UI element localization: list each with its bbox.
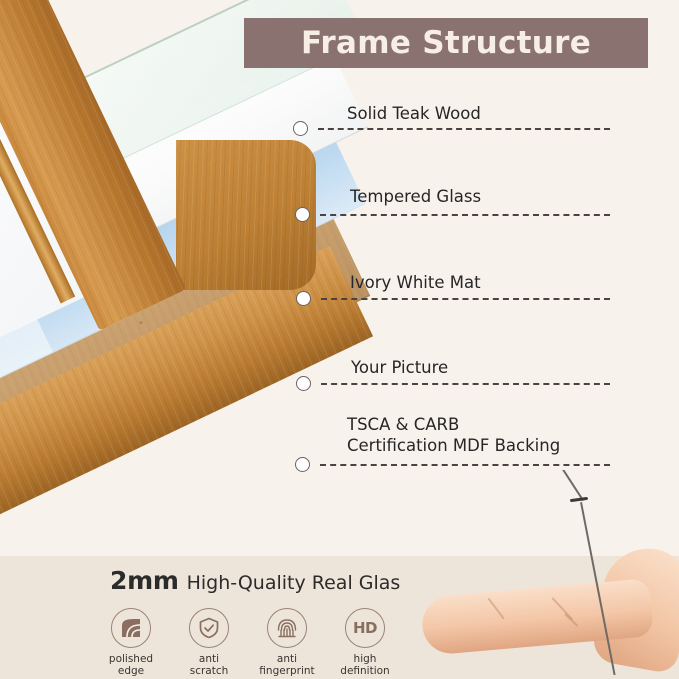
callout-leader-line <box>320 464 610 466</box>
callout-marker <box>293 121 308 136</box>
hd-icon: HD <box>345 608 385 648</box>
polished-edge-icon <box>111 608 151 648</box>
callout-leader-line <box>318 128 610 130</box>
callout-marker <box>296 291 311 306</box>
callout-marker <box>295 457 310 472</box>
feature-anti-fingerprint: anti fingerprint <box>254 608 320 678</box>
callout-leader-line <box>321 383 610 385</box>
hand-holding-glass-photo <box>400 470 679 679</box>
shield-check-icon <box>189 608 229 648</box>
hd-glyph: HD <box>353 619 377 637</box>
callout-label: TSCA & CARB Certification MDF Backing <box>347 414 560 456</box>
callout-label: Ivory White Mat <box>350 272 481 293</box>
feature-anti-scratch: anti scratch <box>176 608 242 678</box>
feature-list: polished edge anti scratch <box>98 608 398 678</box>
callout-marker <box>296 376 311 391</box>
callout-leader-line <box>320 214 610 216</box>
callout-label: Tempered Glass <box>350 186 481 207</box>
infographic-canvas: Frame Structure Solid Teak WoodTempered … <box>0 0 679 679</box>
feature-high-definition: HD high definition <box>332 608 398 678</box>
page-title: Frame Structure <box>301 25 591 61</box>
feature-label: high definition <box>340 653 389 678</box>
fingerprint-icon <box>267 608 307 648</box>
exploded-frame-illustration <box>0 0 420 600</box>
feature-label: polished edge <box>109 653 153 678</box>
glass-headline: 2mm High-Quality Real Glass <box>110 566 410 595</box>
callout-marker <box>295 207 310 222</box>
glass-headline-text: High-Quality Real Glass <box>187 572 411 594</box>
callout-label: Solid Teak Wood <box>347 103 481 124</box>
feature-label: anti fingerprint <box>259 653 314 678</box>
feature-polished-edge: polished edge <box>98 608 164 678</box>
feature-label: anti scratch <box>190 653 229 678</box>
callout-label: Your Picture <box>351 357 448 378</box>
title-banner: Frame Structure <box>244 18 648 68</box>
callout-leader-line <box>321 298 610 300</box>
glass-thickness: 2mm <box>110 566 179 595</box>
